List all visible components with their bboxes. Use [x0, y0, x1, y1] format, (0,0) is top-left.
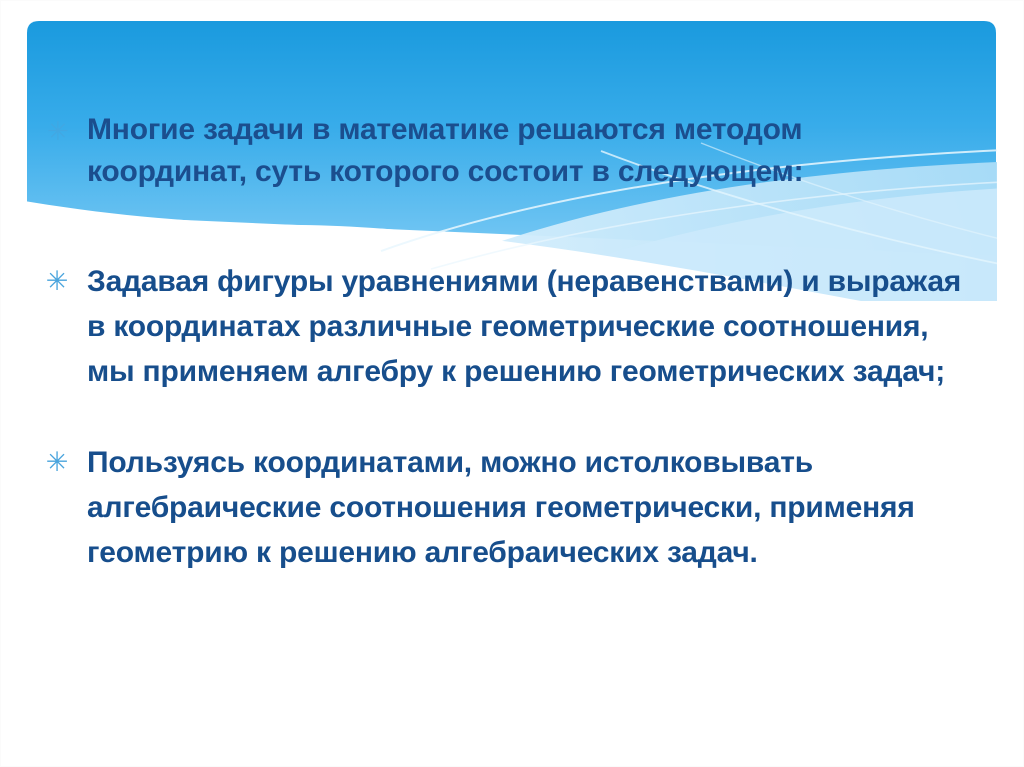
bullet-asterisk-icon: ✳ — [27, 259, 87, 304]
bullet-list: ✳ Задавая фигуры уравнениями (неравенств… — [27, 259, 1002, 575]
bullet-asterisk-icon: ✳ — [27, 440, 87, 485]
bullet-asterisk-icon: ✳ — [47, 109, 87, 153]
slide-title-block: ✳ Многие задачи в математике решаются ме… — [47, 109, 947, 193]
list-item-text: Задавая фигуры уравнениями (неравенствам… — [87, 259, 977, 394]
slide-title-text: Многие задачи в математике решаются мето… — [87, 109, 917, 193]
list-item: ✳ Пользуясь координатами, можно истолков… — [27, 440, 1002, 575]
presentation-slide: ✳ Многие задачи в математике решаются ме… — [0, 0, 1024, 767]
list-item: ✳ Задавая фигуры уравнениями (неравенств… — [27, 259, 1002, 394]
list-item-text: Пользуясь координатами, можно истолковыв… — [87, 440, 977, 575]
